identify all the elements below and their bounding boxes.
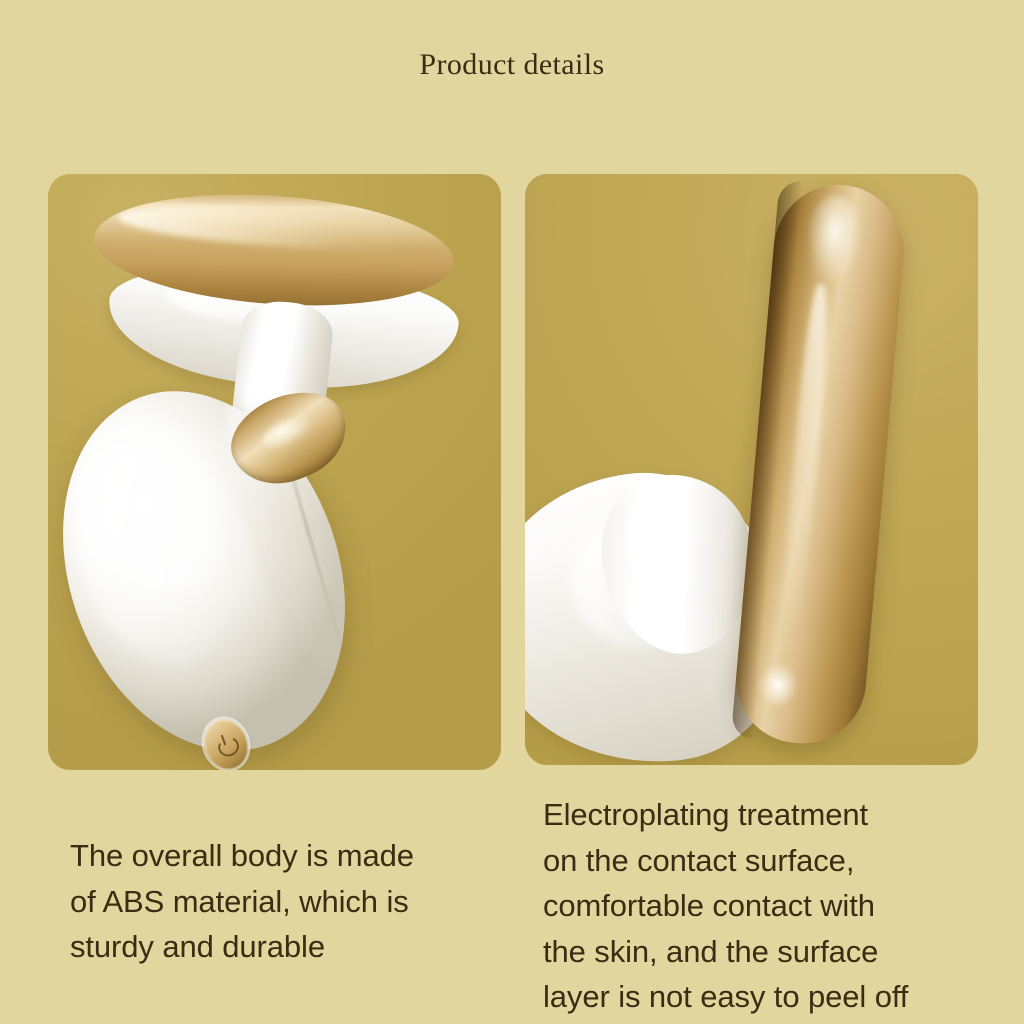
bar-highlight-bottom [757,661,800,709]
caption-line: of ABS material, which is [70,879,510,925]
caption-line: the skin, and the surface [543,929,993,975]
caption-material: The overall body is made of ABS material… [70,833,510,970]
device-illustration-closeup [525,174,978,765]
caption-line: on the contact surface, [543,838,993,884]
caption-electroplating: Electroplating treatment on the contact … [543,792,993,1020]
caption-line: layer is not easy to peel off [543,974,993,1020]
bar-shadow-edge [731,179,803,739]
gold-electroplated-bar [731,179,909,748]
caption-line: comfortable contact with [543,883,993,929]
panel-device-closeup-view [525,174,978,765]
caption-line: sturdy and durable [70,924,510,970]
product-image-panels [48,174,978,770]
caption-line: Electroplating treatment [543,792,993,838]
device-illustration-full [48,174,501,770]
panel-device-full-view [48,174,501,770]
page-title: Product details [0,48,1024,82]
body-highlight-left [48,423,257,686]
caption-line: The overall body is made [70,833,510,879]
bar-highlight-top [802,193,867,287]
power-icon [213,731,239,757]
